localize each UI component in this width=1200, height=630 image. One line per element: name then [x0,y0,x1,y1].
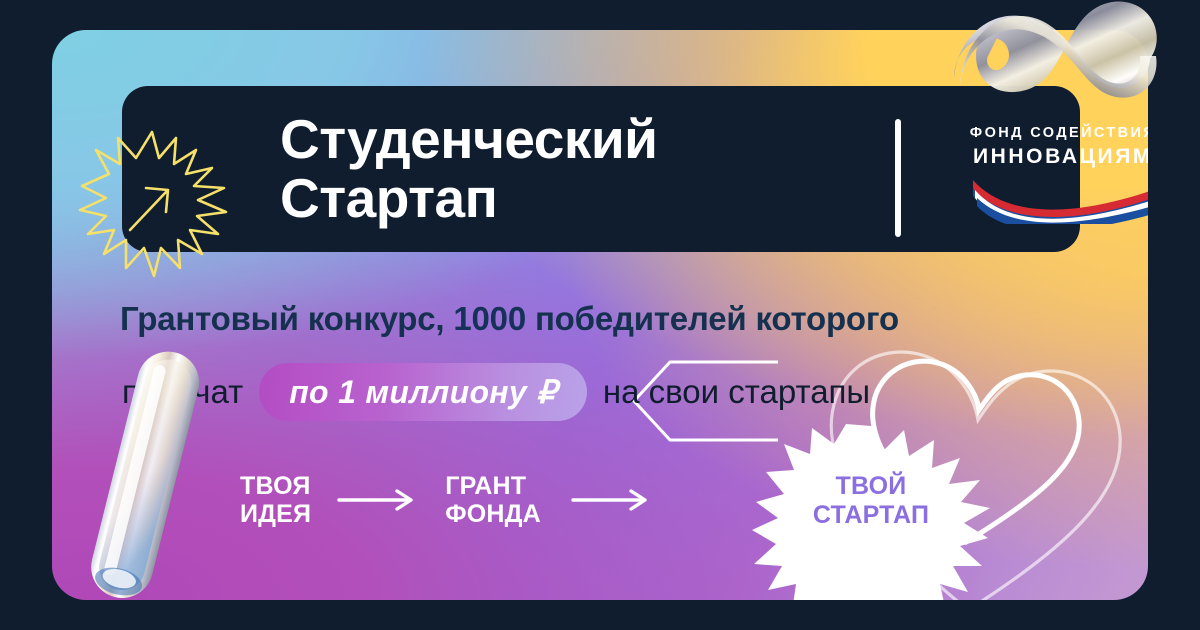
subtitle-winner-count: 1000 [453,300,526,337]
chrome-capsule-icon [62,340,238,612]
subtitle-part-1: Грантовый конкурс, [120,300,453,337]
logo-line-2: ИННОВАЦИЯМ [967,146,1148,167]
chrome-wave-ribbon-icon [940,0,1200,130]
flow-step-startup: ТВОЙ СТАРТАП [752,472,990,529]
flow-step-idea: ТВОЯ ИДЕЯ [240,472,311,528]
arrow-right-icon [337,487,419,513]
subtitle-part-2: победителей которого [526,300,899,337]
subtitle-line2-after: на свои стартапы [603,373,870,411]
poster-canvas: Студенческий Стартап ФОНД СОДЕЙСТВИЯ ИНН… [0,0,1200,630]
fasie-logo: ФОНД СОДЕЙСТВИЯ ИННОВАЦИЯМ [967,126,1148,226]
starburst-outline-arrow-icon [76,128,228,280]
page-title: Студенческий Стартап [280,110,658,228]
arrow-right-icon [571,487,653,513]
subtitle-line-1: Грантовый конкурс, 1000 победителей кото… [120,300,899,338]
process-flow: ТВОЯ ИДЕЯ ГРАНТ ФОНДА [240,472,683,528]
title-bar: Студенческий Стартап ФОНД СОДЕЙСТВИЯ ИНН… [122,86,1080,252]
russian-tricolor-swoosh-icon [967,178,1148,224]
vertical-divider-icon [895,119,901,237]
grant-amount-badge: по 1 миллиону ₽ [259,363,587,421]
flow-step-grant: ГРАНТ ФОНДА [445,472,541,528]
